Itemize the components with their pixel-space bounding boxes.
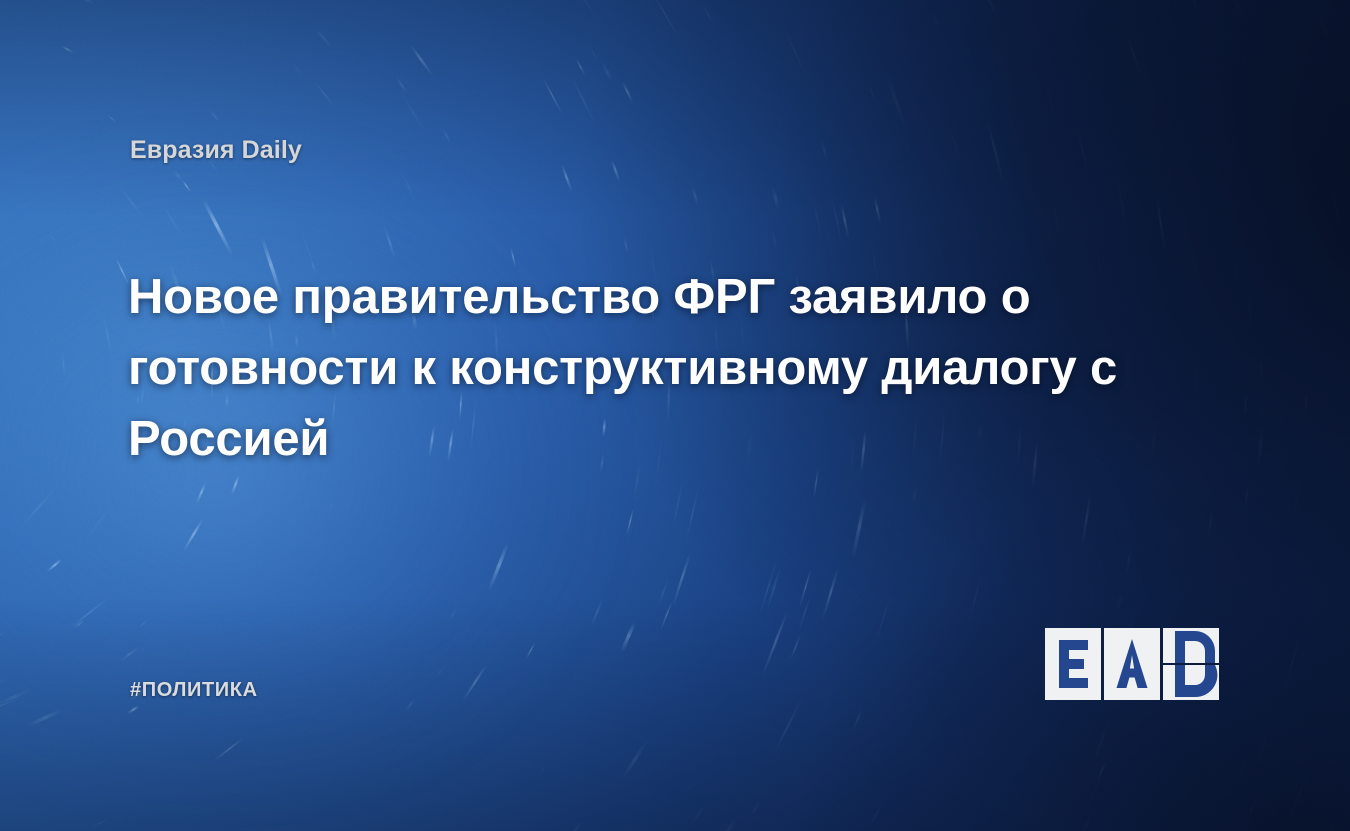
logo-tile-d: [1163, 628, 1219, 700]
category-hashtag: #ПОЛИТИКА: [130, 679, 258, 702]
logo-tile-a: [1104, 628, 1160, 700]
publisher-brand-label: Евразия Daily: [130, 136, 302, 165]
logo-tile-e: [1045, 628, 1101, 700]
headline-title: Новое правительство ФРГ заявило о готовн…: [128, 262, 1118, 475]
eadaily-logo[interactable]: [1045, 628, 1219, 700]
news-share-card: Евразия Daily Новое правительство ФРГ за…: [0, 0, 1350, 831]
